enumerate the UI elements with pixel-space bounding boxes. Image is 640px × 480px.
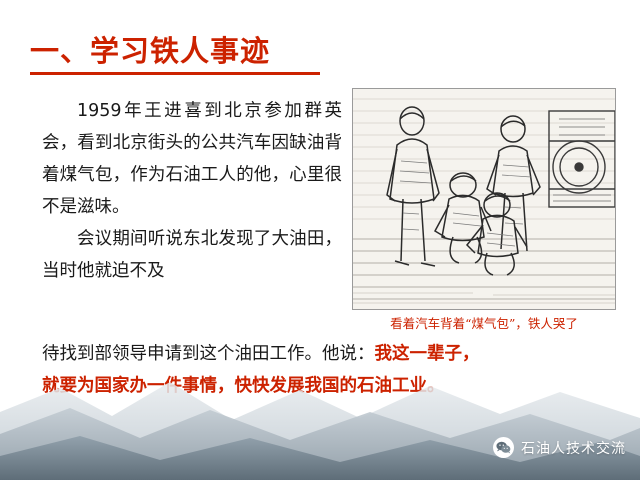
quote-line-1: 我这一辈子， [375, 344, 480, 364]
paragraph-1: 1959年王进喜到北京参加群英会，看到北京街头的公共汽车因缺油背着煤气包，作为石… [42, 95, 342, 223]
mountain-decoration [0, 368, 640, 480]
illustration-drawing [353, 89, 615, 309]
watermark-badge: 石油人技术交流 [493, 437, 626, 458]
watermark-text: 石油人技术交流 [521, 438, 626, 458]
body-text-column: 1959年王进喜到北京参加群英会，看到北京街头的公共汽车因缺油背着煤气包，作为石… [42, 95, 342, 287]
paragraph-2: 会议期间听说东北发现了大油田，当时他就迫不及 [42, 223, 342, 287]
paragraph-3: 待找到部领导申请到这个油田工作。他说：我这一辈子， [42, 338, 602, 370]
figure-caption: 看着汽车背着“煤气包”，铁人哭了 [352, 313, 616, 332]
wechat-icon [493, 437, 514, 458]
wechat-glyph [496, 441, 511, 454]
slide-canvas: 一、学习铁人事迹 1959年王进喜到北京参加群英会，看到北京街头的公共汽车因缺油… [0, 0, 640, 480]
page-title: 一、学习铁人事迹 [30, 28, 270, 70]
illustration-frame [352, 88, 616, 310]
title-underline [30, 72, 320, 75]
paragraph-3-lead: 待找到部领导申请到这个油田工作。他说： [42, 344, 375, 364]
